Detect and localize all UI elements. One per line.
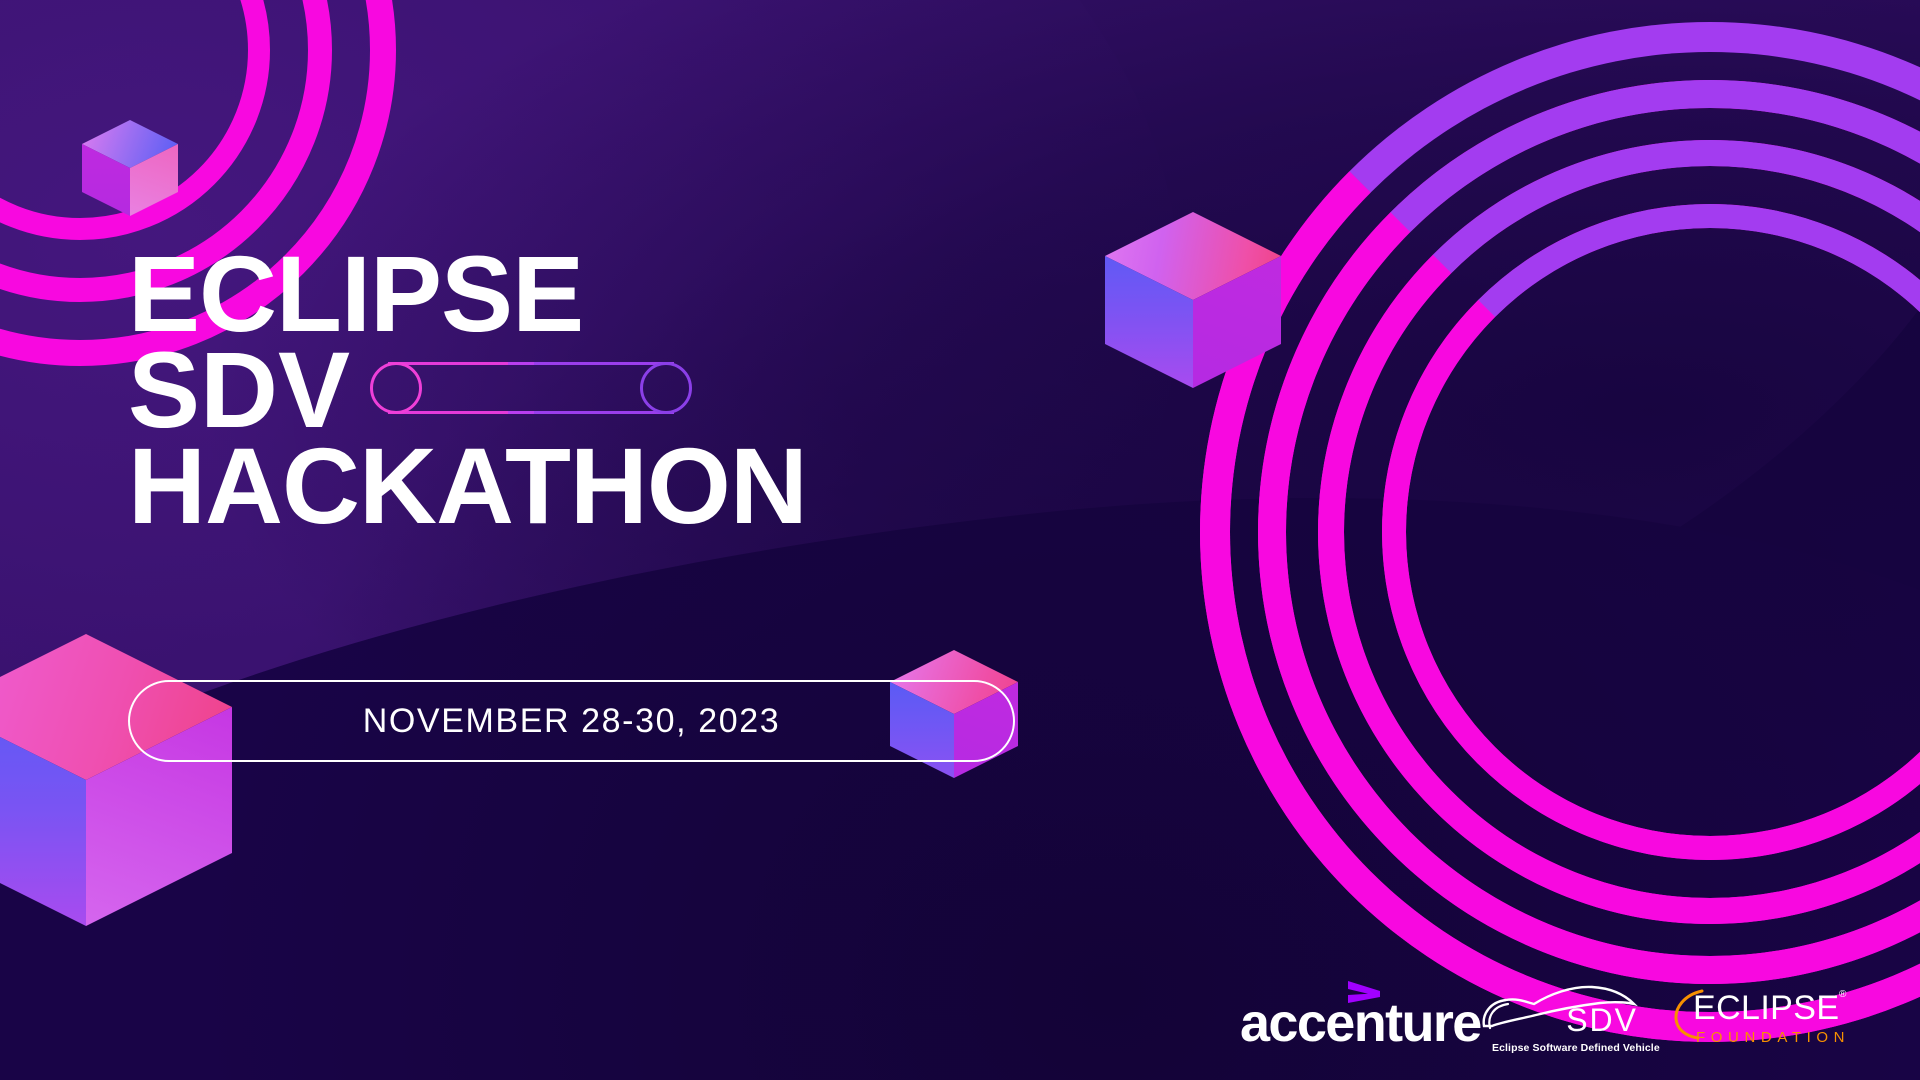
- hackathon-banner: ECLIPSE SDV HACKATHON NOVEMBER 28-30, 20…: [0, 0, 1920, 1080]
- headline-line-sdv: SDV: [128, 342, 350, 438]
- eclipse-foundation-secondary: FOUNDATION: [1696, 1030, 1850, 1045]
- accenture-wordmark: accenture: [1240, 996, 1481, 1050]
- eclipse-foundation-primary: ECLIPSE: [1693, 991, 1839, 1025]
- greater-than-chevron-icon: [1346, 980, 1382, 1004]
- sdv-logo: SDV Eclipse Software Defined Vehicle: [1480, 978, 1638, 1056]
- headline-line-eclipse: ECLIPSE: [128, 246, 1108, 342]
- sdv-cylinder-outline: [370, 362, 692, 414]
- accenture-logo: accenture: [1240, 978, 1462, 1056]
- cube-bottom-left-large: [0, 634, 232, 926]
- concentric-arcs-right: [1200, 22, 1920, 1042]
- cylinder-cap-right: [640, 362, 692, 414]
- sponsor-logos-row: accenture SDV Eclipse Software Defined V…: [1240, 972, 1854, 1056]
- eclipse-foundation-logo: ECLIPSE ® FOUNDATION: [1672, 982, 1854, 1056]
- headline-line-hackathon: HACKATHON: [128, 438, 1108, 534]
- sdv-tagline: Eclipse Software Defined Vehicle: [1492, 1042, 1660, 1054]
- cube-right-large: [1105, 212, 1281, 388]
- sdv-letters: SDV: [1566, 1004, 1638, 1036]
- cylinder-cap-left: [370, 362, 422, 414]
- event-date-label: NOVEMBER 28-30, 2023: [363, 702, 781, 741]
- cube-top-left: [82, 120, 178, 216]
- event-date-pill: NOVEMBER 28-30, 2023: [128, 680, 1015, 762]
- registered-mark: ®: [1839, 990, 1846, 1000]
